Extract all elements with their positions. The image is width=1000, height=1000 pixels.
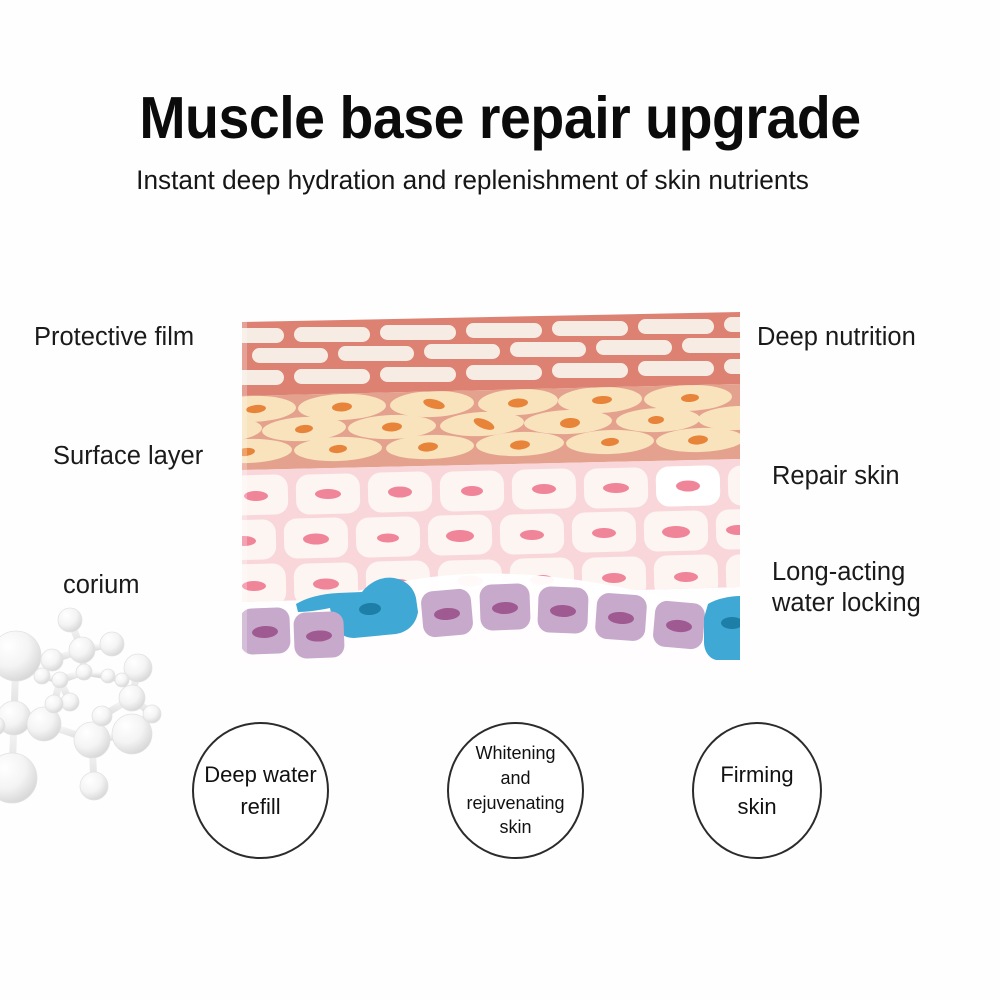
label-deep-nutrition: Deep nutrition	[757, 322, 916, 353]
molecule-model-3d	[0, 606, 186, 864]
molecule-atoms	[0, 608, 161, 803]
page-title: Muscle base repair upgrade	[30, 84, 970, 152]
benefit-circle-firming-skin[interactable]: Firming skin	[692, 722, 822, 859]
poster-root: Muscle base repair upgrade Instant deep …	[0, 0, 1000, 1000]
label-repair-skin: Repair skin	[772, 461, 900, 492]
page-subtitle: Instant deep hydration and replenishment…	[14, 165, 931, 196]
benefit-circle-whitening-and-rejuvenating-skin[interactable]: Whitening and rejuvenating skin	[447, 722, 584, 859]
skin-cross-section-diagram	[242, 312, 740, 664]
label-corium: corium	[63, 570, 140, 601]
label-long-acting-water-locking: Long-acting water locking	[772, 557, 921, 619]
benefit-circle-deep-water-refill[interactable]: Deep water refill	[192, 722, 329, 859]
label-protective-film: Protective film	[34, 322, 194, 353]
label-surface-layer: Surface layer	[53, 441, 203, 472]
